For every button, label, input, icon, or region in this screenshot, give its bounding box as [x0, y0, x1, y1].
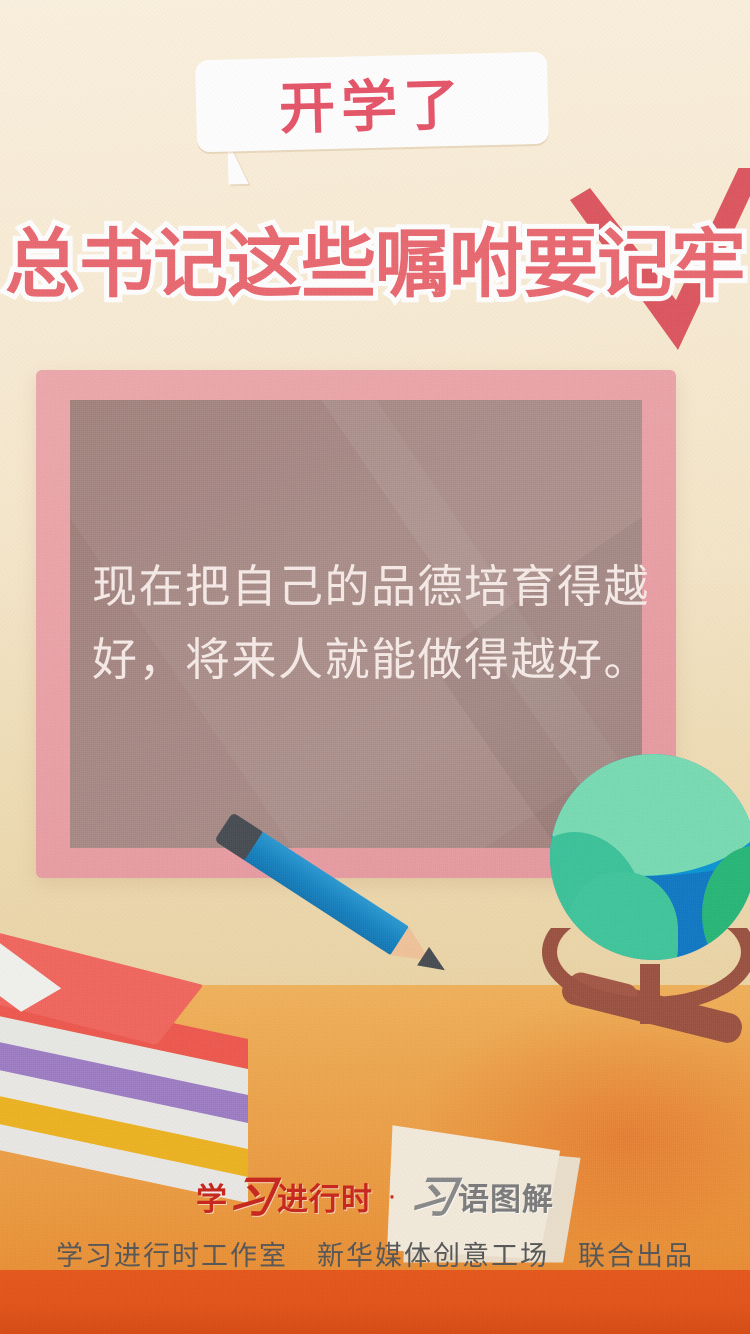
logo-right-xi-glyph: 习	[406, 1161, 462, 1225]
quote-line-1: 现在把自己的品德培育得越	[92, 551, 622, 624]
logo-left-prefix: 学	[196, 1174, 228, 1219]
logo-right-suffix: 语图解	[458, 1174, 554, 1219]
globe-icon	[542, 742, 750, 1062]
poster-canvas: 开学了 总书记这些嘱咐要记牢 现在把自己的品德培育得越 好，将来人就能做得越好。	[0, 0, 750, 1334]
desk-front-edge	[0, 1270, 750, 1334]
quote-line-2: 好，将来人就能做得越好。	[92, 624, 622, 697]
logo-xuexi-jinxingshi: 学 习 进行时	[196, 1164, 373, 1228]
logo-xiyu-tujie: 习 语图解	[411, 1164, 554, 1228]
credit-line: 学习进行时工作室 新华媒体创意工场 联合出品	[0, 1228, 750, 1278]
book-label	[0, 942, 61, 1011]
globe-sphere	[550, 754, 750, 960]
footer-logo: 学 习 进行时 · 习 语图解	[0, 1172, 750, 1220]
logo-left-suffix: 进行时	[277, 1174, 373, 1219]
globe-continent-mid	[568, 872, 678, 960]
logo-separator-dot: ·	[383, 1179, 401, 1213]
speech-bubble-text: 开学了	[195, 52, 549, 153]
book-stack-icon	[0, 928, 280, 1178]
logo-left-xi-glyph: 习	[225, 1161, 281, 1225]
page-title: 总书记这些嘱咐要记牢	[0, 202, 750, 312]
